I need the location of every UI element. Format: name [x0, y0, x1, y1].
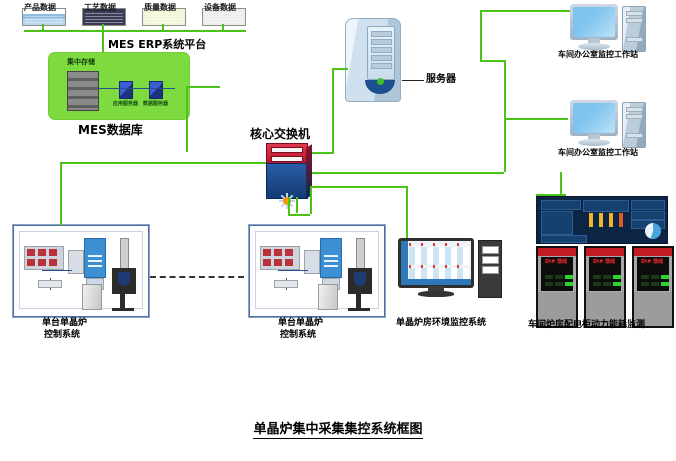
power-cabinet-1: DI# 馈线	[536, 246, 578, 328]
power-monitor-label: 车间炉房配电柜动力能耗监测	[528, 320, 645, 330]
data-server-label: 数据服务器	[143, 100, 168, 107]
wire-server-to-switch-v	[332, 68, 334, 154]
mes-database-box: 集中存储 应用服务器 数据服务器	[48, 52, 190, 120]
furnace-control-2-label-line1: 单台单晶炉	[278, 318, 323, 328]
diagram-title-text: 单晶炉集中采集集控系统框图	[253, 422, 422, 439]
dashed-connector-furnaces	[150, 276, 244, 278]
workstation-2-label: 车间办公室监控工作站	[558, 148, 638, 157]
workstation-2-icon	[564, 100, 654, 148]
furnace-control-2-label-line2: 控制系统	[280, 330, 316, 340]
wire-left-trunk-down	[60, 162, 62, 214]
mes-storage-label: 集中存储	[67, 57, 95, 67]
mes-database-label: MES数据库	[78, 124, 143, 138]
wire-switch-bottom-h	[288, 214, 310, 216]
wire-env-monitor-v	[406, 186, 408, 238]
workstation-1-label: 车间办公室监控工作站	[558, 50, 638, 59]
wire-workstation-1-down	[504, 60, 506, 172]
application-server-label: 应用服务器	[113, 100, 138, 107]
env-monitor-label: 单晶炉房环境监控系统	[396, 318, 486, 328]
mes-erp-platform-label: MES ERP系统平台	[108, 39, 206, 52]
wire-furnace2-riser	[310, 186, 312, 214]
leader-line-server-label	[402, 80, 424, 81]
wire-workstation-1-jog	[480, 60, 504, 62]
workstation-1-icon	[564, 4, 654, 52]
core-switch-icon	[266, 143, 312, 197]
wire-data-sources-bus	[24, 30, 246, 32]
wire-furnace1-uplink	[60, 214, 62, 226]
furnace-control-1-label-line2: 控制系统	[44, 330, 80, 340]
wire-equipment-drop	[222, 24, 224, 31]
env-monitor-icon	[398, 238, 502, 306]
power-cabinet-3: DI# 馈线	[632, 246, 674, 328]
switch-star-glyph	[279, 193, 295, 209]
wire-server-to-switch-h	[312, 152, 334, 154]
diagram-title: 单晶炉集中采集集控系统框图	[0, 418, 676, 437]
energy-scada-panel	[536, 196, 668, 244]
wire-workstation-1-riser	[480, 10, 482, 60]
wire-to-workstation-1	[480, 10, 570, 12]
wire-left-trunk-h	[60, 162, 266, 164]
wire-scada-riser	[560, 172, 562, 196]
data-source-label-process: 工艺数据	[84, 2, 116, 13]
wire-product-drop	[42, 24, 44, 31]
central-storage-icon	[67, 71, 99, 111]
wire-mes-to-trunk	[186, 86, 188, 152]
power-cabinet-2-header: DI# 馈线	[593, 258, 615, 265]
power-cabinet-1-header: DI# 馈线	[545, 258, 567, 265]
server-label: 服务器	[426, 74, 456, 86]
power-cabinet-3-header: DI# 馈线	[641, 258, 663, 265]
data-source-label-product: 产品数据	[24, 2, 56, 13]
application-server-icon	[119, 81, 133, 99]
power-cabinet-2: DI# 馈线	[584, 246, 626, 328]
data-source-label-equipment: 设备数据	[204, 2, 236, 13]
wire-to-workstation-2	[504, 118, 568, 120]
wire-env-monitor-h	[312, 186, 408, 188]
wire-mes-right-tap	[186, 86, 220, 88]
tower-server-icon	[345, 18, 401, 102]
core-switch-label: 核心交换机	[250, 128, 310, 142]
wire-server-tap	[332, 68, 348, 70]
data-source-label-quality: 质量数据	[144, 2, 176, 13]
furnace-control-1-label-line1: 单台单晶炉	[42, 318, 87, 328]
data-server-icon	[149, 81, 163, 99]
wire-switch-bottom-drop	[288, 197, 290, 215]
furnace-control-box-1	[12, 224, 150, 318]
wire-bus-to-mes	[102, 30, 104, 54]
wire-furnace2-uplink	[296, 197, 298, 213]
wire-quality-drop	[162, 24, 164, 31]
wire-storage-to-servers	[97, 88, 175, 89]
furnace-control-box-2	[248, 224, 386, 318]
wire-switch-to-right-trunk	[312, 172, 504, 174]
scada-pie-chart	[645, 223, 661, 239]
